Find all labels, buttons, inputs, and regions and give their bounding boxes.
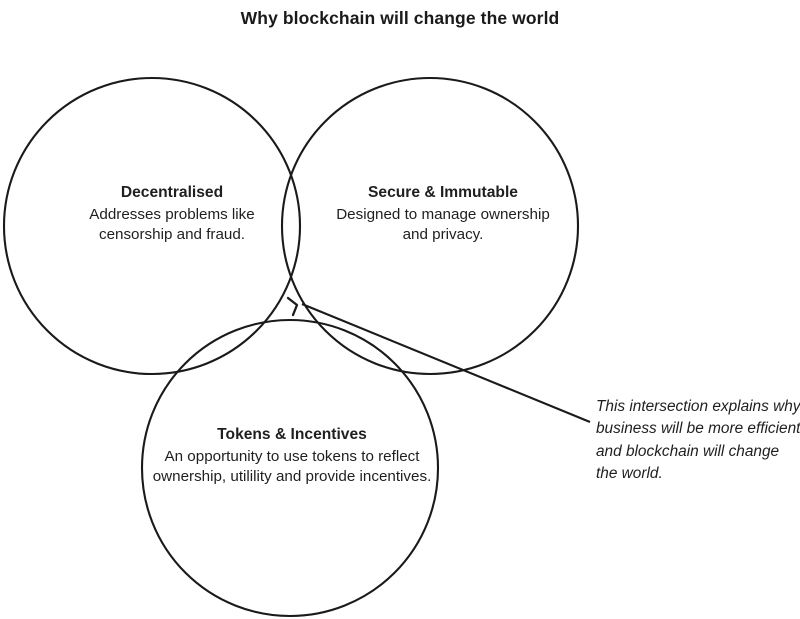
set-body: An opportunity to use tokens to reflect …	[152, 447, 432, 487]
set-heading: Decentralised	[52, 183, 292, 204]
intersection-annotation: This intersection explains why business …	[596, 396, 800, 485]
set-label-secure-immutable: Secure & Immutable Designed to manage ow…	[332, 183, 554, 245]
set-heading: Tokens & Incentives	[152, 425, 432, 446]
arrowhead-icon	[288, 298, 297, 315]
set-body: Addresses problems like censorship and f…	[52, 205, 292, 245]
callout-leader-line	[302, 304, 590, 422]
set-label-tokens-incentives: Tokens & Incentives An opportunity to us…	[152, 425, 432, 487]
venn-diagram	[0, 0, 800, 619]
set-body: Designed to manage ownership and privacy…	[332, 205, 554, 245]
diagram-canvas: Why blockchain will change the world	[0, 0, 800, 619]
set-label-decentralised: Decentralised Addresses problems like ce…	[52, 183, 292, 245]
set-heading: Secure & Immutable	[332, 183, 554, 204]
callout-arrow	[288, 298, 590, 422]
